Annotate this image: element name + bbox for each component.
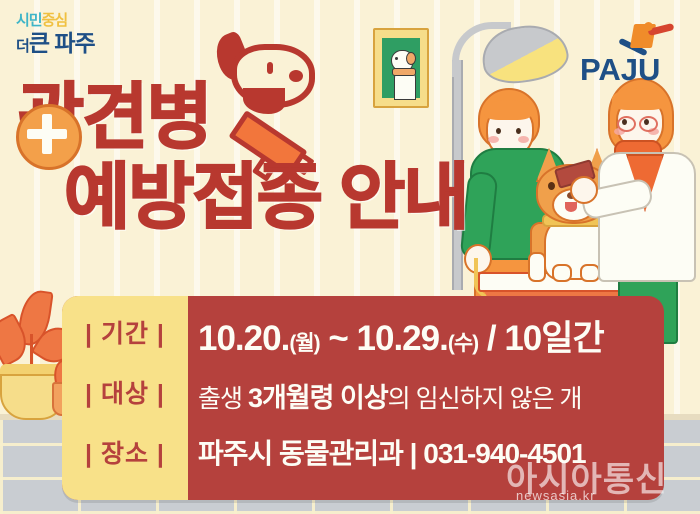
brand-bottom-prefix: 더 <box>16 38 29 55</box>
info-value-place: 파주시 동물관리과 | 031-940-4501 <box>198 432 586 472</box>
paju-logo-text: PAJU <box>580 52 660 88</box>
dog-eye <box>548 182 555 190</box>
owner-cheek <box>488 136 499 143</box>
info-value-target: 출생 3개월령 이상의 임신하지 않은 개 <box>198 376 582 415</box>
vet-eye <box>622 119 627 125</box>
vet-eye <box>644 119 649 125</box>
owner-eye <box>496 128 501 134</box>
brand-top-b: 중심 <box>42 12 68 29</box>
brand-bottom-main: 큰 파주 <box>29 30 95 56</box>
info-box: | 기간 | | 대상 | | 장소 | 10.20.(월) ~ 10.29.(… <box>62 296 664 500</box>
art-dog-eye <box>267 62 273 74</box>
dog-paw <box>552 264 572 282</box>
city-brand-logo: 시민중심 더큰 파주 <box>16 12 136 74</box>
info-value-period: 10.20.(월) ~ 10.29.(수) / 10일간 <box>198 310 604 361</box>
portrait-dog-ear <box>406 52 416 65</box>
info-label-place: | 장소 | <box>62 434 188 470</box>
owner-bangs <box>484 100 532 120</box>
poster-canvas: 시민중심 더큰 파주 PAJU 광견병 예방접종 안내 | 기간 | | 대상 … <box>0 0 700 514</box>
info-label-period: | 기간 | <box>62 314 188 350</box>
dog-foot <box>528 252 546 282</box>
medical-cross-horizontal <box>27 129 67 139</box>
vet-bangs <box>612 88 666 110</box>
headline-line-2: 예방접종 안내 <box>18 162 488 234</box>
owner-cheek <box>518 136 529 143</box>
portrait-dog-collar <box>392 68 416 76</box>
brand-bottom-line: 더큰 파주 <box>16 30 136 60</box>
info-label-target: | 대상 | <box>62 374 188 410</box>
plant-pot-rim <box>0 364 62 376</box>
brand-top-a: 시민 <box>16 12 42 29</box>
headline: 광견병 예방접종 안내 <box>18 82 488 234</box>
dog-paw <box>580 264 600 282</box>
dog-mouth <box>565 202 577 212</box>
headline-line-1: 광견병 <box>18 82 488 154</box>
owner-eye <box>516 128 521 134</box>
vet-hand <box>570 176 598 204</box>
art-dog-snout <box>289 70 303 82</box>
portrait-dog-eye <box>395 57 398 60</box>
paju-logo: PAJU <box>574 22 684 90</box>
brand-top-line: 시민중심 <box>16 12 136 30</box>
running-person-head <box>644 22 653 31</box>
vet-glasses <box>617 116 636 132</box>
vet-glasses <box>639 116 658 132</box>
